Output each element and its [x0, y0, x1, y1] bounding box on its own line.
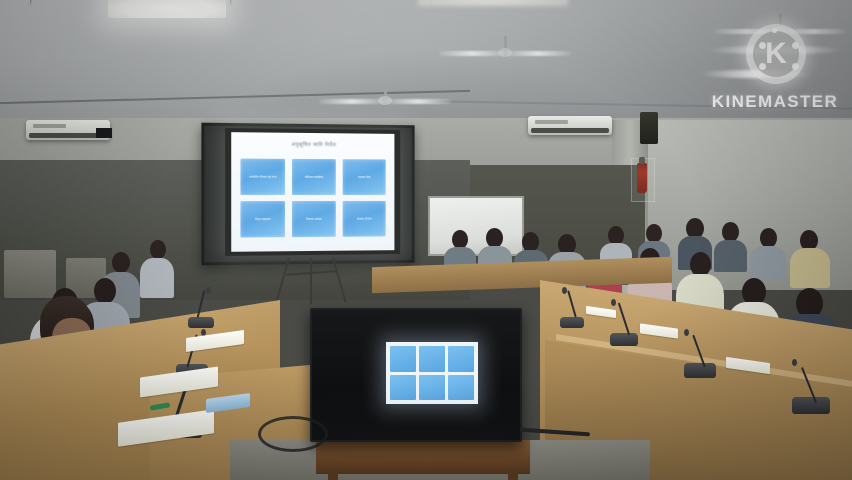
slide-box-grid: शासकीय योजना का लाभ प्रशिक्षण कार्यक्रम … [240, 159, 385, 238]
tv-slide-box [419, 375, 445, 401]
wall-speaker [640, 112, 658, 144]
tv-slide-box [390, 375, 416, 401]
tv-stand-neck [96, 128, 112, 138]
slide-box-text: शासकीय योजना का लाभ [249, 175, 277, 179]
screen-tripod-stand [276, 258, 346, 306]
attendee-body [790, 248, 830, 288]
tv-slide-mirror [386, 342, 478, 404]
gooseneck-microphone [610, 300, 638, 346]
presentation-slide: अनुसूचित जाति निर्देश शासकीय योजना का ला… [231, 132, 394, 252]
attendee-head [150, 240, 166, 259]
tv-slide-box [419, 346, 445, 372]
slide-box: आवास योजना [343, 201, 386, 237]
attendee-body [140, 258, 174, 298]
attendee-body [714, 240, 747, 272]
ceiling-light-panel [108, 0, 226, 18]
projection-screen-surface: अनुसूचित जाति निर्देश शासकीय योजना का ला… [231, 132, 394, 252]
slide-box: प्रशिक्षण कार्यक्रम [292, 159, 336, 195]
attendee-head [722, 222, 739, 242]
tv-slide-box [390, 346, 416, 372]
gooseneck-microphone [684, 330, 714, 378]
slide-box-text: स्वास्थ्य सेवा [358, 175, 371, 179]
attendee-head [486, 228, 503, 248]
attendee-body [750, 246, 786, 280]
slide-box-text: प्रशिक्षण कार्यक्रम [305, 175, 324, 179]
ceiling [0, 0, 852, 135]
attendee-head [112, 252, 130, 273]
gooseneck-microphone [792, 362, 826, 414]
tv-slide-grid [390, 346, 474, 400]
attendee-head [760, 228, 777, 248]
attendee-head [522, 232, 539, 252]
flat-screen-tv [310, 308, 522, 442]
fire-extinguisher [637, 163, 647, 193]
slide-box: शिक्षा सहायता [240, 201, 285, 237]
slide-box: शासकीय योजना का लाभ [240, 159, 285, 195]
whiteboard [428, 196, 524, 256]
floor-cables [258, 416, 328, 452]
tv-table [316, 440, 530, 474]
gooseneck-microphone [188, 288, 212, 328]
attendee-head [94, 278, 116, 304]
slide-box: स्वास्थ्य सेवा [343, 159, 386, 195]
ceiling-tile-grid [0, 0, 440, 135]
slide-box-text: रोजगार अवसर [306, 217, 322, 221]
split-ac-right [528, 116, 612, 135]
stacked-chairs [4, 250, 56, 298]
tv-slide-box [448, 346, 474, 372]
tv-slide-box [448, 375, 474, 401]
slide-box-text: आवास योजना [357, 217, 372, 221]
projection-screen: अनुसूचित जाति निर्देश शासकीय योजना का ला… [201, 123, 414, 266]
ceiling-light-panel [418, 0, 568, 6]
slide-box: रोजगार अवसर [292, 201, 336, 237]
video-frame: अनुसूचित जाति निर्देश शासकीय योजना का ला… [0, 0, 852, 480]
gooseneck-microphone [560, 288, 584, 328]
slide-title: अनुसूचित जाति निर्देश [231, 141, 394, 148]
ceiling-seam [430, 100, 852, 110]
slide-box-text: शिक्षा सहायता [255, 217, 270, 221]
